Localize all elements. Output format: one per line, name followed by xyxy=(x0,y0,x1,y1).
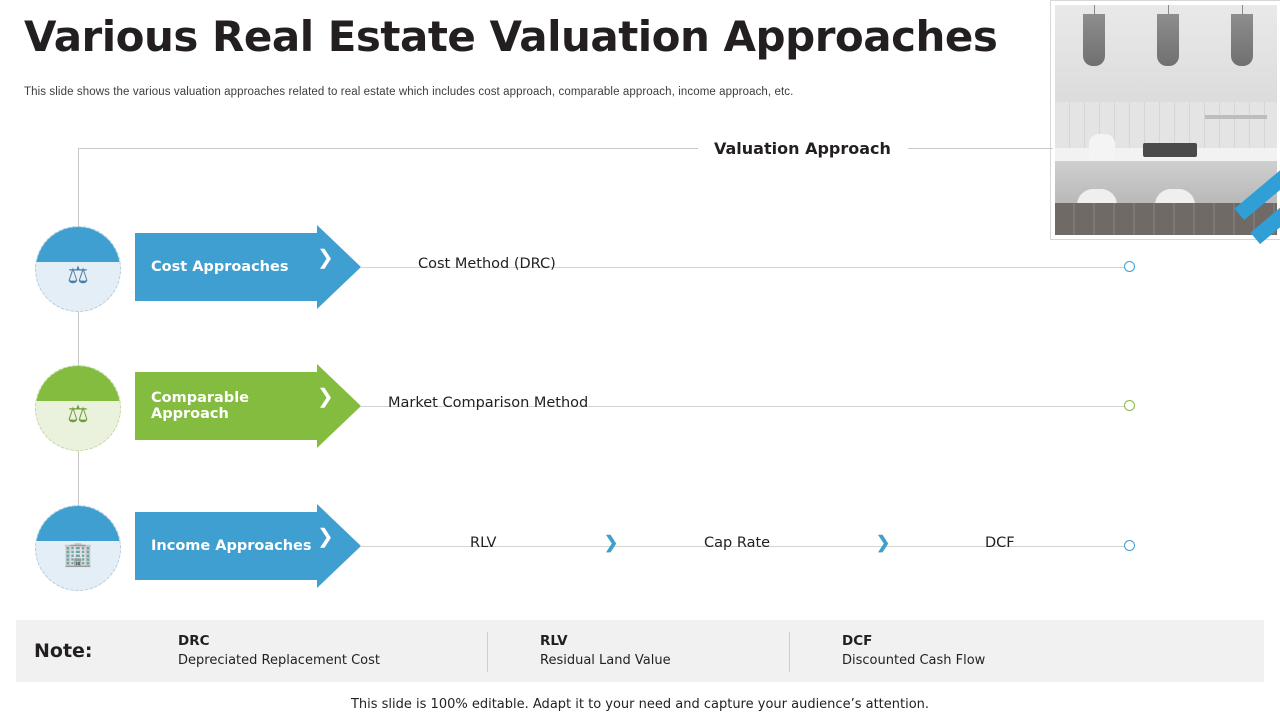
row-end-dot xyxy=(1124,400,1135,411)
chevron-right-icon: ❯ xyxy=(317,527,334,547)
comparison-scales-icon: ⚖ xyxy=(36,403,120,427)
banner-cost[interactable]: Cost Approaches xyxy=(135,233,317,301)
note-label: Note: xyxy=(34,640,93,662)
connector-line-left xyxy=(78,148,698,149)
note-divider xyxy=(789,632,790,672)
note-abbr: DCF xyxy=(842,633,985,649)
page-subtitle: This slide shows the various valuation a… xyxy=(24,86,793,98)
approach-row-comparable[interactable]: ⚖ Comparable Approach ❯ Market Compariso… xyxy=(0,345,1280,465)
step-cost-method: Cost Method (DRC) xyxy=(418,256,556,272)
badge-comparable: ⚖ xyxy=(35,365,121,451)
row-end-dot xyxy=(1124,261,1135,272)
note-divider xyxy=(487,632,488,672)
approach-row-cost[interactable]: ⚖ Cost Approaches ❯ Cost Method (DRC) xyxy=(0,206,1280,326)
step-rlv: RLV xyxy=(470,535,496,551)
note-item-drc: DRC Depreciated Replacement Cost xyxy=(178,633,380,668)
banner-income[interactable]: Income Approaches xyxy=(135,512,317,580)
chevron-right-icon: ❯ xyxy=(317,387,334,407)
footer-text: This slide is 100% editable. Adapt it to… xyxy=(0,697,1280,712)
note-desc: Residual Land Value xyxy=(540,653,671,668)
step-cap-rate: Cap Rate xyxy=(704,535,770,551)
approach-row-income[interactable]: 🏢 Income Approaches ❯ RLV ❯ Cap Rate ❯ D… xyxy=(0,485,1280,605)
step-dcf: DCF xyxy=(985,535,1015,551)
note-abbr: DRC xyxy=(178,633,380,649)
building-income-icon: 🏢 xyxy=(36,543,120,567)
badge-income: 🏢 xyxy=(35,505,121,591)
row-end-dot xyxy=(1124,540,1135,551)
chevron-right-icon: ❯ xyxy=(317,248,334,268)
note-item-dcf: DCF Discounted Cash Flow xyxy=(842,633,985,668)
badge-cap xyxy=(36,227,120,262)
pendant-lamp-icon xyxy=(1231,14,1253,66)
note-desc: Depreciated Replacement Cost xyxy=(178,653,380,668)
pendant-lamp-icon xyxy=(1157,14,1179,66)
chevron-right-icon: ❯ xyxy=(604,533,618,553)
connector-line-right xyxy=(908,148,1053,149)
page-title: Various Real Estate Valuation Approaches xyxy=(24,12,997,61)
note-item-rlv: RLV Residual Land Value xyxy=(540,633,671,668)
cost-calculator-icon: ⚖ xyxy=(36,264,120,288)
badge-cap xyxy=(36,506,120,541)
chevron-right-icon: ❯ xyxy=(876,533,890,553)
banner-income-label: Income Approaches xyxy=(135,538,312,554)
pendant-lamp-icon xyxy=(1083,14,1105,66)
stove-icon xyxy=(1143,143,1197,157)
banner-cost-label: Cost Approaches xyxy=(135,259,288,275)
note-abbr: RLV xyxy=(540,633,671,649)
badge-cap xyxy=(36,366,120,401)
note-desc: Discounted Cash Flow xyxy=(842,653,985,668)
diagram-center-label: Valuation Approach xyxy=(714,139,891,158)
banner-comparable-label: Comparable Approach xyxy=(135,390,317,422)
photo-shelf xyxy=(1205,115,1267,119)
banner-comparable[interactable]: Comparable Approach xyxy=(135,372,317,440)
step-market-comparison: Market Comparison Method xyxy=(388,395,588,411)
badge-cost: ⚖ xyxy=(35,226,121,312)
